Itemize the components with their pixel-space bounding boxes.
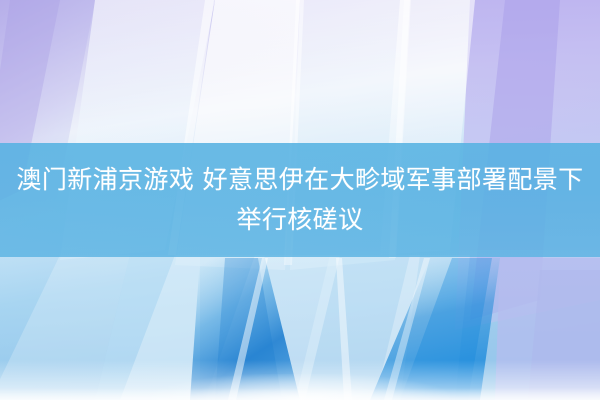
banner-image: 澳门新浦京游戏 好意思伊在大畛域军事部署配景下举行核磋议 [0, 0, 600, 400]
headline-band: 澳门新浦京游戏 好意思伊在大畛域军事部署配景下举行核磋议 [0, 143, 600, 257]
headline-text: 澳门新浦京游戏 好意思伊在大畛域军事部署配景下举行核磋议 [12, 160, 588, 240]
